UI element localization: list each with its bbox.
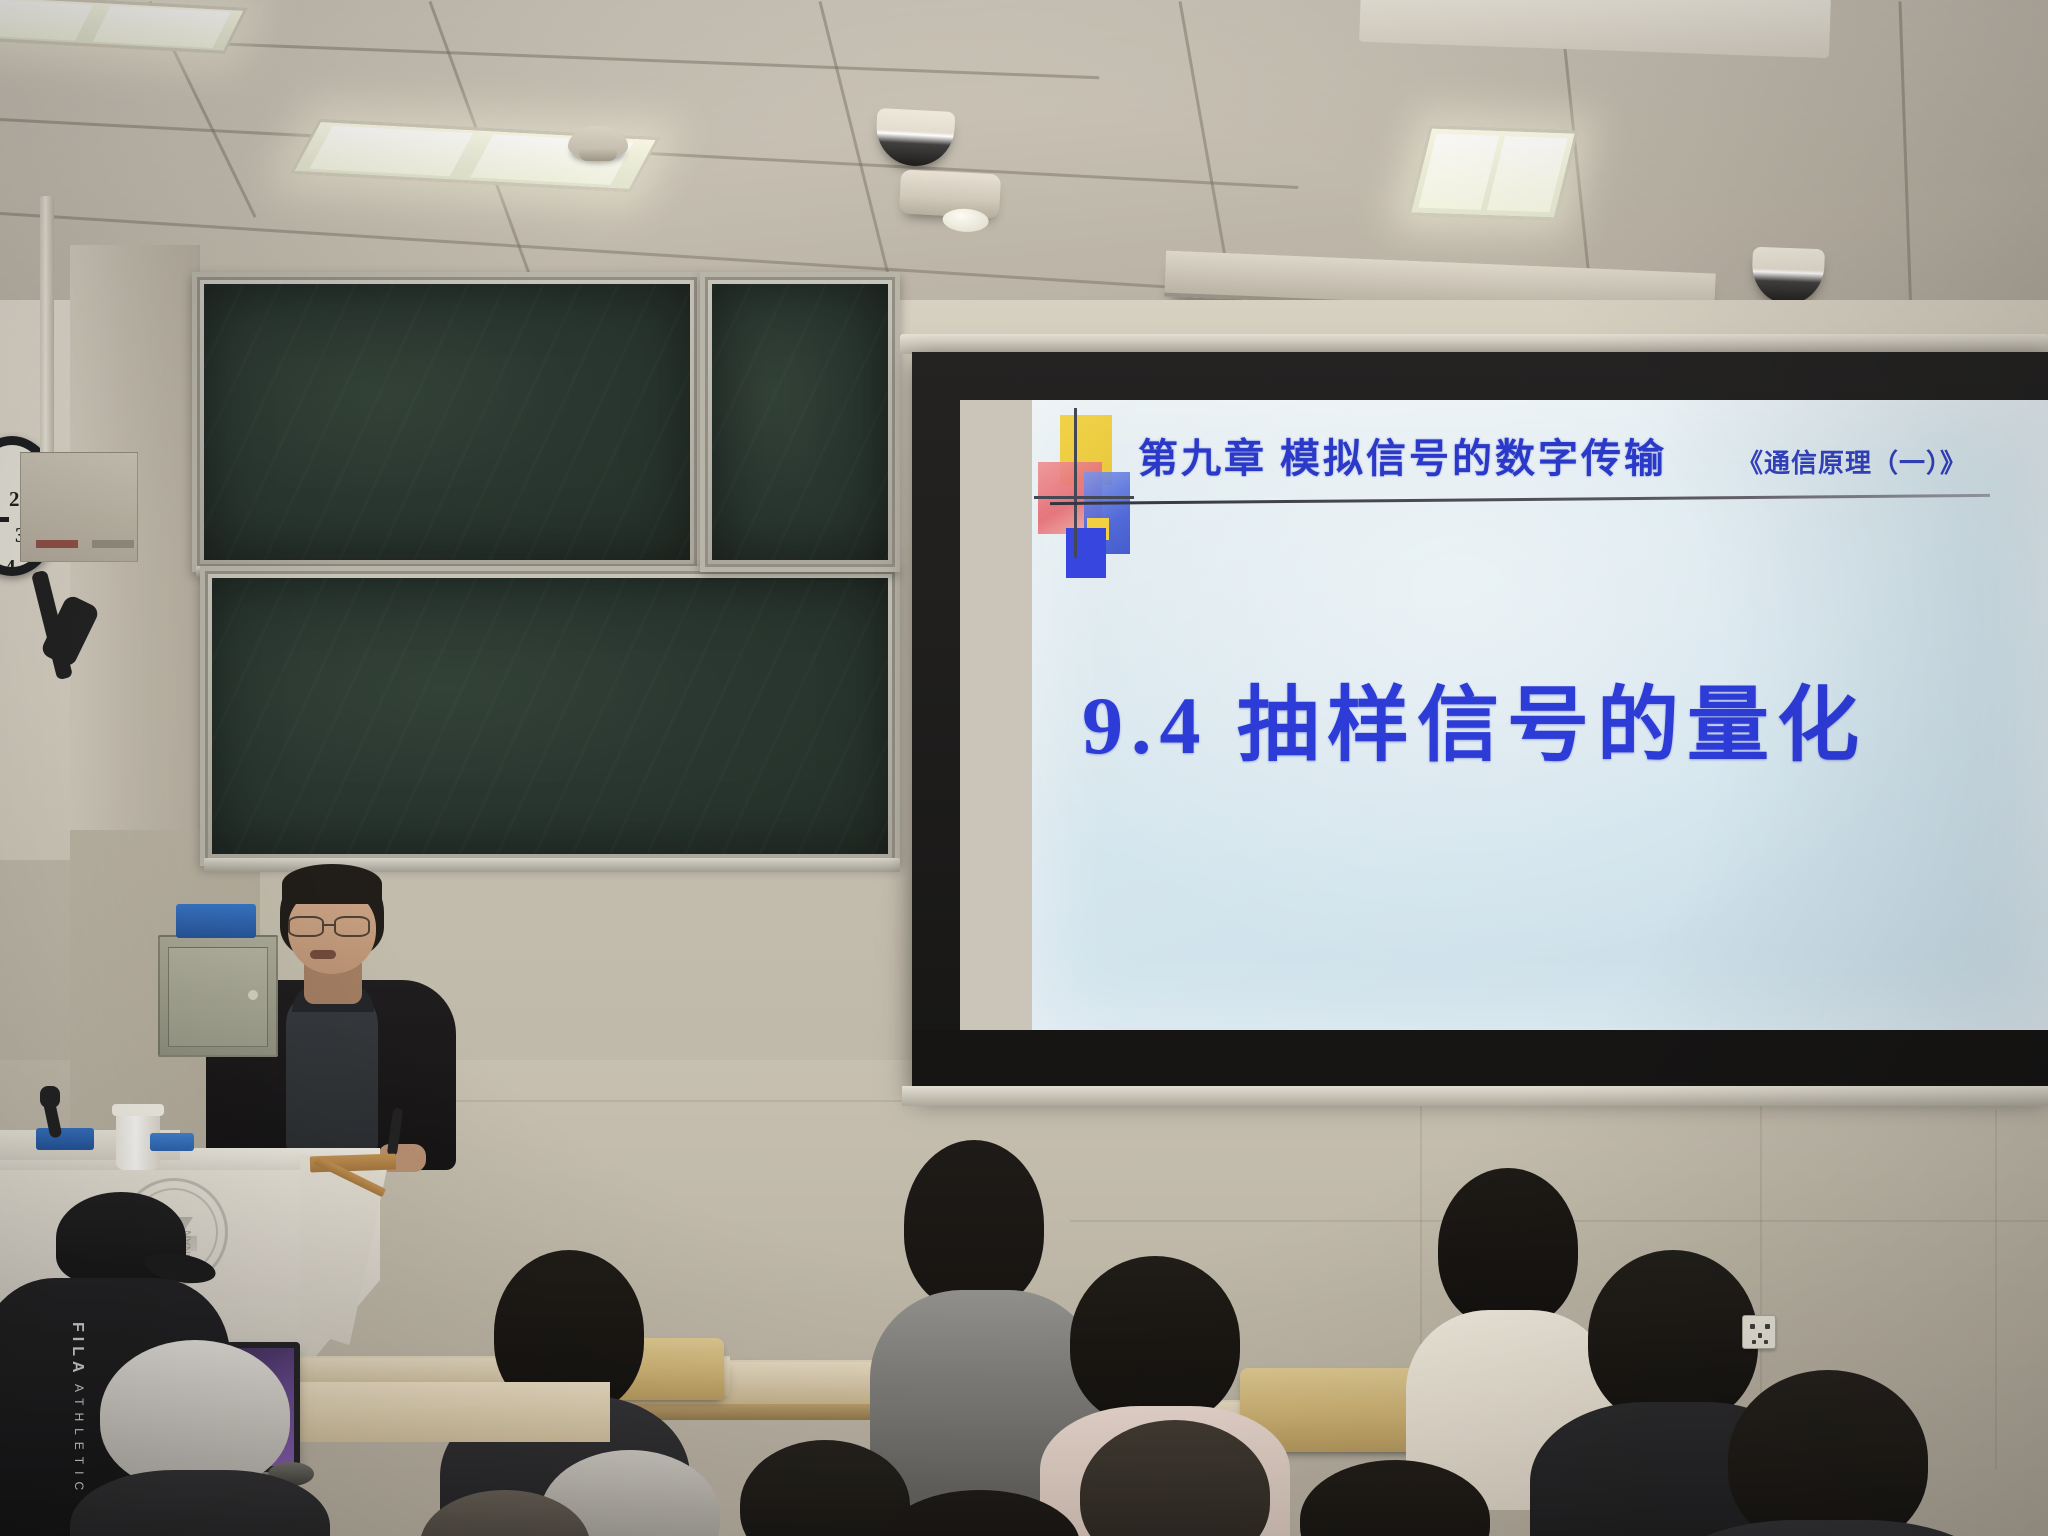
- ceiling-light-panel: [0, 0, 248, 54]
- cabinet-blue-item: [176, 904, 256, 938]
- screen-bottom-bar: [912, 1030, 2048, 1082]
- paper-cup-lid: [112, 1104, 164, 1116]
- slide-header-rule: [1050, 494, 1990, 505]
- smoke-detector-icon: [568, 126, 628, 160]
- projection-screen[interactable]: 第九章 模拟信号的数字传输 《通信原理（一）》 9.4 抽样信号的量化: [912, 352, 2048, 1092]
- slide-header-course: 《通信原理（一）》: [1737, 443, 1967, 480]
- slide-main-title: 9.4 抽样信号的量化: [1082, 658, 1867, 777]
- blue-device-box: [36, 1128, 94, 1150]
- slide-deco-horizontal-line: [1034, 496, 1134, 499]
- slide-deco-blue-solid: [1066, 528, 1106, 578]
- audience-head: [1070, 1256, 1240, 1426]
- slide-deco-vertical-line: [1074, 408, 1077, 558]
- lecture-hall-photo: 1 2 3 4 5: [0, 0, 2048, 1536]
- audience-head: [1728, 1370, 1928, 1536]
- jacket-sub-text: ATHLETIC: [72, 1384, 86, 1497]
- ceiling-projector-icon: [899, 169, 1001, 218]
- presenter-hair-top: [282, 864, 382, 904]
- slide-header-title: 第九章 模拟信号的数字传输: [1138, 426, 1667, 484]
- audience-head: [100, 1340, 290, 1490]
- presenter-glasses: [334, 916, 370, 937]
- presenter-glasses-bridge: [324, 924, 334, 926]
- blue-device-box: [150, 1133, 194, 1151]
- cabinet-knob[interactable]: [248, 990, 258, 1000]
- dome-camera-icon: [875, 108, 956, 168]
- dome-camera-icon: [1751, 247, 1825, 305]
- presenter-sweater: [286, 990, 378, 1150]
- projected-slide: 第九章 模拟信号的数字传输 《通信原理（一）》 9.4 抽样信号的量化: [1032, 400, 2048, 1030]
- junction-indicator: [36, 540, 78, 548]
- blackboard-upper: [192, 272, 702, 572]
- power-outlet-icon: [1742, 1315, 1776, 1349]
- jacket-brand-text: FILA: [68, 1322, 86, 1378]
- blackboard-right-panel: [700, 272, 900, 572]
- ceiling-light-panel: [1407, 125, 1578, 220]
- audience-head: [1588, 1250, 1758, 1425]
- audience-head: [904, 1140, 1044, 1310]
- slide-header: 第九章 模拟信号的数字传输 《通信原理（一）》: [1138, 426, 1967, 484]
- screen-top-rail: [900, 334, 2048, 354]
- junction-indicator: [92, 540, 134, 548]
- presenter-glasses: [288, 916, 324, 937]
- audience-head: [1438, 1168, 1578, 1328]
- presenter-mouth: [310, 950, 336, 959]
- screen-bottom-frame: [902, 1086, 2048, 1106]
- blackboard-lower: [200, 566, 900, 866]
- desk-microphone-head: [40, 1086, 60, 1108]
- ceiling-conduit: [40, 196, 54, 456]
